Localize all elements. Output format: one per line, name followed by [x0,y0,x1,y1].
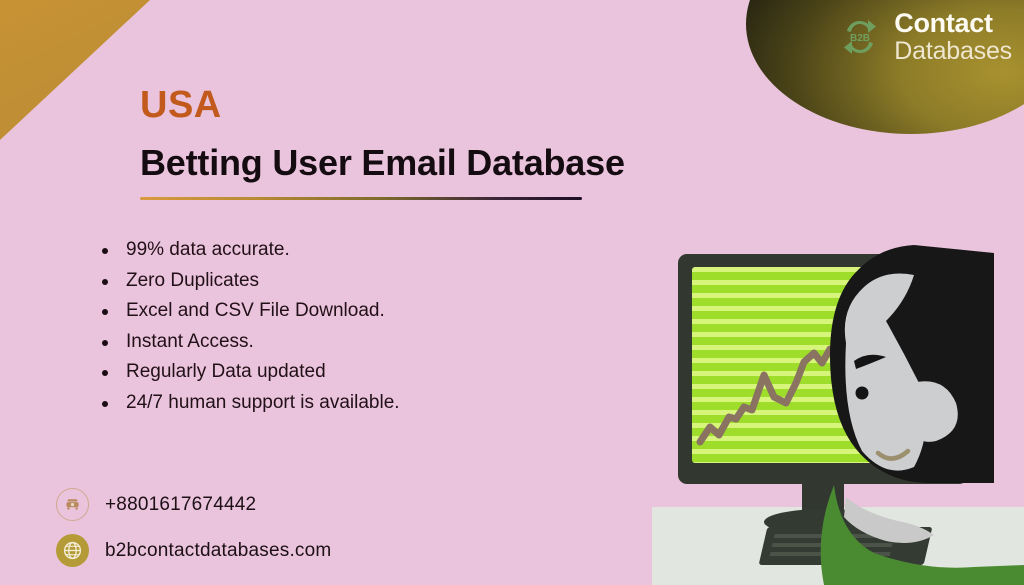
country-label: USA [140,84,222,127]
corner-accent-triangle [0,0,150,140]
list-item: Regularly Data updated [100,357,400,388]
contact-block: +8801617674442 b2bcontactdatabases.com [56,488,331,567]
person-figure [794,235,1024,585]
list-item: 24/7 human support is available. [100,388,400,419]
brand-logo[interactable]: B2B Contact Databases [837,10,1012,64]
b2b-recycle-icon: B2B [837,14,883,60]
brand-name-line1: Contact [894,10,1012,37]
contact-website-row[interactable]: b2bcontactdatabases.com [56,534,331,567]
list-item: Instant Access. [100,327,400,358]
website-url: b2bcontactdatabases.com [105,540,331,562]
globe-icon [56,534,89,567]
brand-name-line2: Databases [894,39,1012,64]
contact-phone-row[interactable]: +8801617674442 [56,488,331,521]
telephone-icon [56,488,89,521]
promo-banner: B2B Contact Databases USA Betting User E… [0,0,1024,585]
svg-text:B2B: B2B [850,33,870,44]
phone-number: +8801617674442 [105,494,256,516]
list-item: 99% data accurate. [100,235,400,266]
feature-list: 99% data accurate. Zero Duplicates Excel… [100,235,400,418]
list-item: Excel and CSV File Download. [100,296,400,327]
title-underline-rule [140,197,582,200]
person-at-computer-illustration [644,235,1024,585]
page-title: Betting User Email Database [140,142,625,184]
list-item: Zero Duplicates [100,266,400,297]
